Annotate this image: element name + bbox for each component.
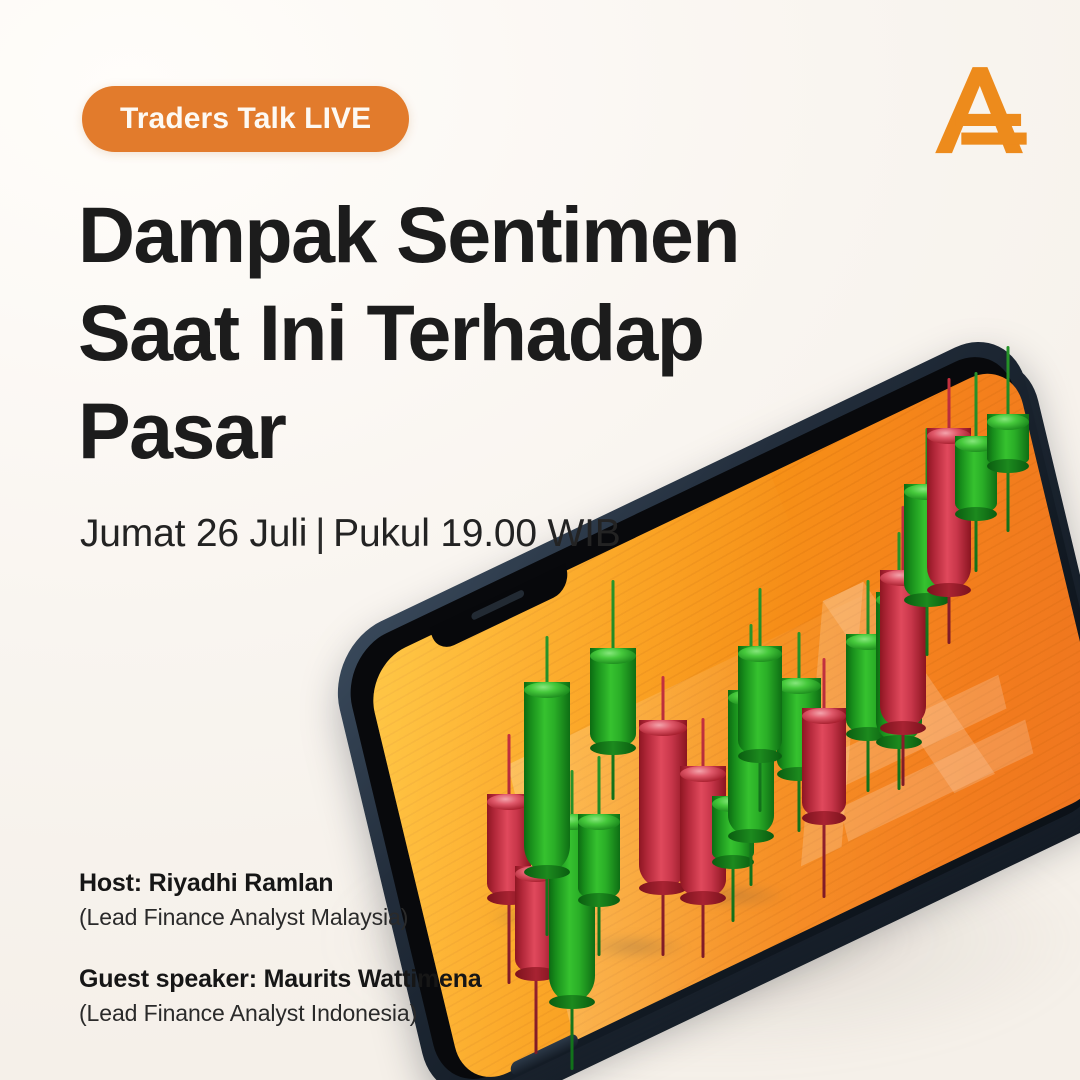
headline-line-2: Saat Ini Terhadap <box>78 284 838 382</box>
speaker-guest: Guest speaker: Maurits Wattimena (Lead F… <box>79 962 549 1030</box>
candle-13 <box>738 640 782 810</box>
headline-line-3: Pasar <box>78 382 838 480</box>
speaker-host: Host: Riyadhi Ramlan (Lead Finance Analy… <box>79 866 549 934</box>
speaker-list: Host: Riyadhi Ramlan (Lead Finance Analy… <box>79 866 549 1030</box>
live-badge-label: Traders Talk LIVE <box>120 102 371 136</box>
poster-canvas: Traders Talk LIVE Dampak Sentimen Saat I… <box>0 0 1080 1080</box>
schedule-time: Pukul 19.00 WIB <box>333 512 620 555</box>
schedule-date: Jumat 26 Juli <box>80 512 307 555</box>
schedule-line: Jumat 26 Juli|Pukul 19.00 WIB <box>80 512 621 556</box>
speaker-guest-role: (Lead Finance Analyst Indonesia) <box>79 996 549 1030</box>
page-title: Dampak Sentimen Saat Ini Terhadap Pasar <box>78 186 838 480</box>
live-badge: Traders Talk LIVE <box>82 86 409 152</box>
speaker-host-role: (Lead Finance Analyst Malaysia) <box>79 900 549 934</box>
candle-6 <box>590 642 636 802</box>
candle-12 <box>802 700 846 880</box>
candle-4 <box>578 808 620 948</box>
speaker-guest-name: Guest speaker: Maurits Wattimena <box>79 962 549 996</box>
brand-a-logo-icon <box>924 56 1036 168</box>
schedule-separator: | <box>307 512 333 556</box>
headline-line-1: Dampak Sentimen <box>78 186 838 284</box>
speaker-host-name: Host: Riyadhi Ramlan <box>79 866 549 900</box>
candle-20 <box>987 408 1029 518</box>
